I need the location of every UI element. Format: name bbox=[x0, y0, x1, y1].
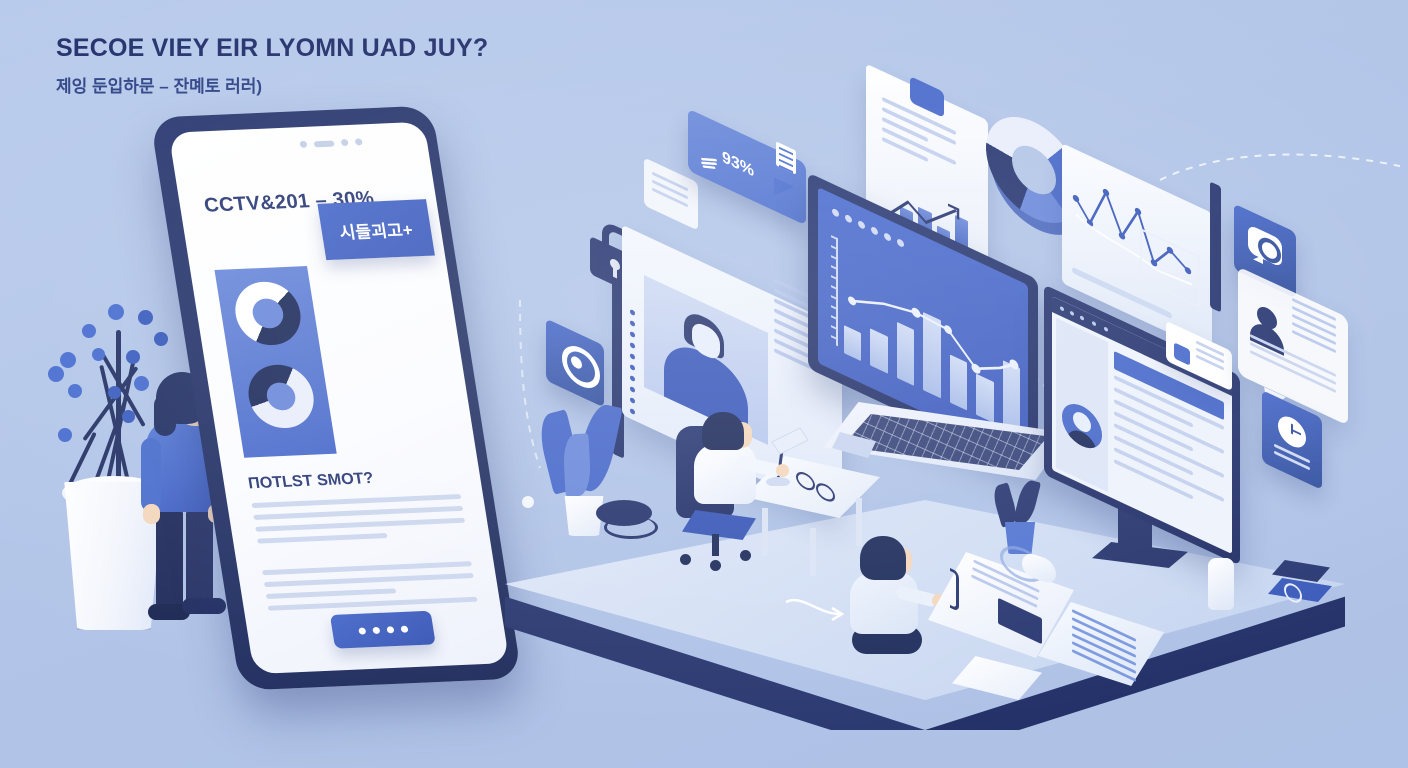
floor-arrow-icon bbox=[784, 592, 854, 626]
chart-axis bbox=[836, 237, 838, 346]
target-icon-card[interactable] bbox=[546, 332, 604, 394]
clip-icon bbox=[950, 568, 959, 612]
tablet-body-text bbox=[251, 494, 478, 618]
person-at-desk bbox=[672, 412, 792, 562]
notification-card bbox=[1166, 336, 1232, 376]
tablet-section-title: ПОTLST SMOT? bbox=[247, 470, 375, 493]
user-profile-card bbox=[1238, 292, 1348, 400]
dashboard-sidebar[interactable] bbox=[1056, 318, 1108, 492]
illustration-canvas: SECOE VIEY EIR LYOMN UAD JUY? 제잉 둔입하문 – … bbox=[0, 0, 1408, 768]
tablet-cta-button[interactable] bbox=[330, 611, 436, 649]
water-bottle bbox=[1208, 558, 1234, 610]
donut-icon bbox=[244, 363, 318, 429]
floor-tablet bbox=[1038, 602, 1164, 686]
page-title: SECOE VIEY EIR LYOMN UAD JUY? bbox=[56, 34, 488, 63]
stat-speech-bubble: 93% bbox=[688, 136, 806, 198]
line-chart-tablet bbox=[1062, 178, 1212, 318]
page-subtitle: 제잉 둔입하문 – 잔몌토 러러) bbox=[56, 72, 488, 97]
connector-dot bbox=[522, 496, 534, 508]
gauge-icon bbox=[231, 280, 305, 346]
clock-card bbox=[1262, 404, 1322, 476]
potted-plant-small bbox=[990, 478, 1048, 554]
book-stack bbox=[1268, 556, 1338, 610]
header: SECOE VIEY EIR LYOMN UAD JUY? 제잉 둔입하문 – … bbox=[56, 34, 488, 97]
status-dots bbox=[299, 138, 362, 148]
icon-tile bbox=[214, 266, 336, 458]
promo-badge[interactable]: 시들괴고+ bbox=[317, 199, 435, 260]
video-sidebar bbox=[630, 309, 635, 415]
headphones bbox=[596, 500, 652, 534]
